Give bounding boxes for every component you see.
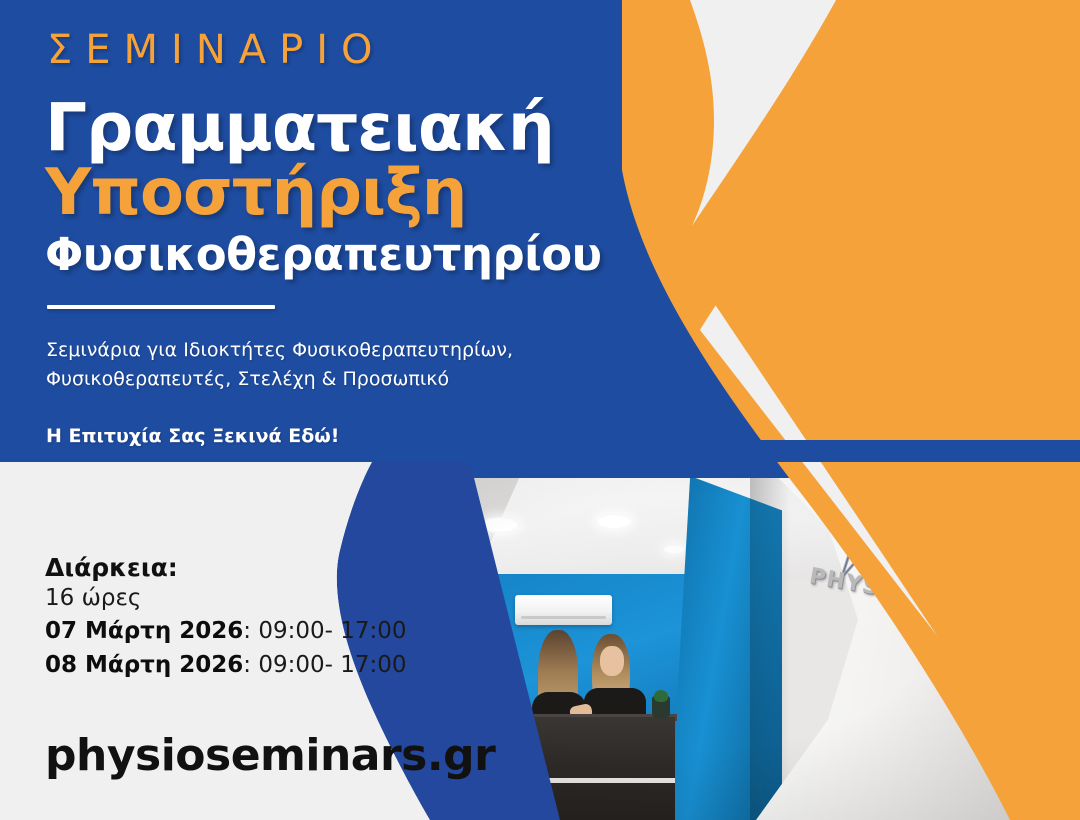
poster-content: ΣΕΜΙΝΑΡΙΟ Γραμματειακή Υποστήριξη Φυσικο… (0, 0, 1080, 820)
website-url[interactable]: physioseminars.gr (45, 730, 495, 781)
session-separator: : (243, 652, 258, 678)
session-separator: : (243, 618, 258, 644)
session-date: 07 Μάρτη 2026 (45, 618, 243, 644)
session-date: 08 Μάρτη 2026 (45, 652, 243, 678)
title-line-3: Φυσικοθεραπευτηρίου (45, 233, 685, 276)
duration-label: Διάρκεια: (45, 552, 465, 583)
title-block: Γραμματειακή Υποστήριξη Φυσικοθεραπευτηρ… (45, 96, 685, 276)
title-line-2: Υποστήριξη (45, 163, 685, 224)
title-line-1: Γραμματειακή (45, 96, 685, 159)
audience-line-1: Σεμινάρια για Ιδιοκτήτες Φυσικοθεραπευτη… (46, 336, 666, 365)
session-time: 09:00- 17:00 (258, 618, 406, 644)
session-row: 07 Μάρτη 2026: 09:00- 17:00 (45, 614, 465, 648)
eyebrow-label: ΣΕΜΙΝΑΡΙΟ (47, 30, 386, 70)
session-row: 08 Μάρτη 2026: 09:00- 17:00 (45, 648, 465, 682)
title-divider (47, 305, 275, 309)
audience-description: Σεμινάρια για Ιδιοκτήτες Φυσικοθεραπευτη… (46, 336, 666, 395)
session-time: 09:00- 17:00 (258, 652, 406, 678)
duration-value: 16 ώρες (45, 583, 465, 614)
audience-line-2: Φυσικοθεραπευτές, Στελέχη & Προσωπικό (46, 365, 666, 394)
seminar-poster: PHYSIO ATHENS ΣΕΜΙΝΑΡΙΟ Γραμματει (0, 0, 1080, 820)
details-block: Διάρκεια: 16 ώρες 07 Μάρτη 2026: 09:00- … (45, 552, 465, 682)
tagline: Η Επιτυχία Σας Ξεκινά Εδώ! (46, 425, 339, 447)
